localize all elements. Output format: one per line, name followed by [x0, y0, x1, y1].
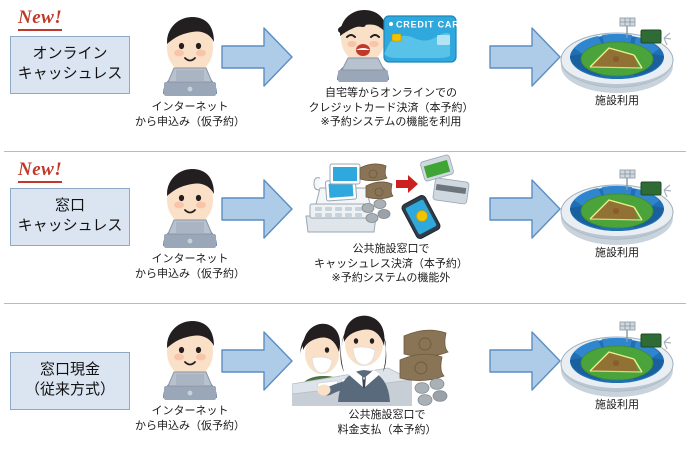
- row-label-line: キャッシュレス: [13, 216, 127, 236]
- step-caption: 公共施設窓口で キャッシュレス決済（本予約） ※予約システムの機能外: [296, 242, 486, 286]
- row-label-column: New! オンライン キャッシュレス: [0, 0, 140, 152]
- step-caption: 施設利用: [552, 398, 682, 413]
- step-counter-cashless-payment: 公共施設窓口で キャッシュレス決済（本予約） ※予約システムの機能外: [296, 154, 486, 286]
- row-label-line: （従来方式）: [13, 380, 127, 400]
- caption-line: ※予約システムの機能を利用: [296, 115, 486, 130]
- caption-line: 料金支払（本予約）: [292, 423, 482, 438]
- caption-line: ※予約システムの機能外: [296, 271, 486, 286]
- step-counter-cash-payment: 公共施設窓口で 料金支払（本予約）: [292, 310, 482, 437]
- flow-row-counter-cashless: New! 窓口 キャッシュレス: [0, 152, 690, 304]
- caption-line: 公共施設窓口で: [292, 408, 482, 423]
- caption-line: 自宅等からオンラインでの: [296, 86, 486, 101]
- credit-card-label: CREDIT CARD: [396, 20, 467, 30]
- step-caption: インターネット から申込み（仮予約）: [130, 100, 250, 129]
- caption-line: 公共施設窓口で: [296, 242, 486, 257]
- flow-row-counter-cash: 窓口現金 （従来方式）: [0, 304, 690, 456]
- flow-arrow-icon: [220, 176, 294, 242]
- flow-row-online-cashless: New! オンライン キャッシュレス: [0, 0, 690, 152]
- new-badge: New!: [18, 8, 62, 31]
- counter-payment-cash-icon: [292, 310, 482, 406]
- flow-arrow-icon: [488, 176, 562, 242]
- stadium-icon: [552, 4, 682, 96]
- red-arrow-icon: [396, 175, 418, 193]
- step-facility-use: 施設利用: [552, 4, 682, 109]
- row-label-line: 窓口: [13, 196, 127, 216]
- step-caption: 自宅等からオンラインでの クレジットカード決済（本予約） ※予約システムの機能を…: [296, 86, 486, 130]
- row-label-box: オンライン キャッシュレス: [10, 36, 130, 94]
- step-facility-use: 施設利用: [552, 308, 682, 413]
- row-label-box: 窓口 キャッシュレス: [10, 188, 130, 246]
- new-badge: New!: [18, 160, 62, 183]
- flow-arrow-icon: [488, 328, 562, 394]
- flow-arrow-icon: [488, 24, 562, 90]
- row-label-line: 窓口現金: [13, 360, 127, 380]
- caption-line: 施設利用: [552, 94, 682, 109]
- caption-line: インターネット: [130, 100, 250, 115]
- row-label-column: 窓口現金 （従来方式）: [0, 304, 140, 456]
- step-caption: インターネット から申込み（仮予約）: [130, 252, 250, 281]
- caption-line: クレジットカード決済（本予約）: [296, 101, 486, 116]
- step-facility-use: 施設利用: [552, 156, 682, 261]
- caption-line: インターネット: [130, 404, 250, 419]
- step-caption: 公共施設窓口で 料金支払（本予約）: [292, 408, 482, 437]
- step-caption: 施設利用: [552, 94, 682, 109]
- caption-line: から申込み（仮予約）: [130, 419, 250, 434]
- caption-line: 施設利用: [552, 246, 682, 261]
- caption-line: 施設利用: [552, 398, 682, 413]
- stadium-icon: [552, 308, 682, 400]
- caption-line: から申込み（仮予約）: [130, 267, 250, 282]
- flow-diagram: New! オンライン キャッシュレス: [0, 0, 690, 456]
- caption-line: インターネット: [130, 252, 250, 267]
- caption-line: から申込み（仮予約）: [130, 115, 250, 130]
- person-laptop-creditcard-icon: CREDIT CARD: [296, 8, 486, 82]
- step-caption: 施設利用: [552, 246, 682, 261]
- cash-register-to-cashless-icon: [296, 154, 486, 240]
- caption-line: キャッシュレス決済（本予約）: [296, 257, 486, 272]
- flow-arrow-icon: [220, 24, 294, 90]
- step-online-credit-payment: CREDIT CARD 自宅等からオンラインでの クレジットカード決済（本予約）…: [296, 8, 486, 130]
- row-label-box: 窓口現金 （従来方式）: [10, 352, 130, 410]
- flow-arrow-icon: [220, 328, 294, 394]
- row-label-line: キャッシュレス: [13, 64, 127, 84]
- stadium-icon: [552, 156, 682, 248]
- step-caption: インターネット から申込み（仮予約）: [130, 404, 250, 433]
- row-label-column: New! 窓口 キャッシュレス: [0, 152, 140, 304]
- row-label-line: オンライン: [13, 44, 127, 64]
